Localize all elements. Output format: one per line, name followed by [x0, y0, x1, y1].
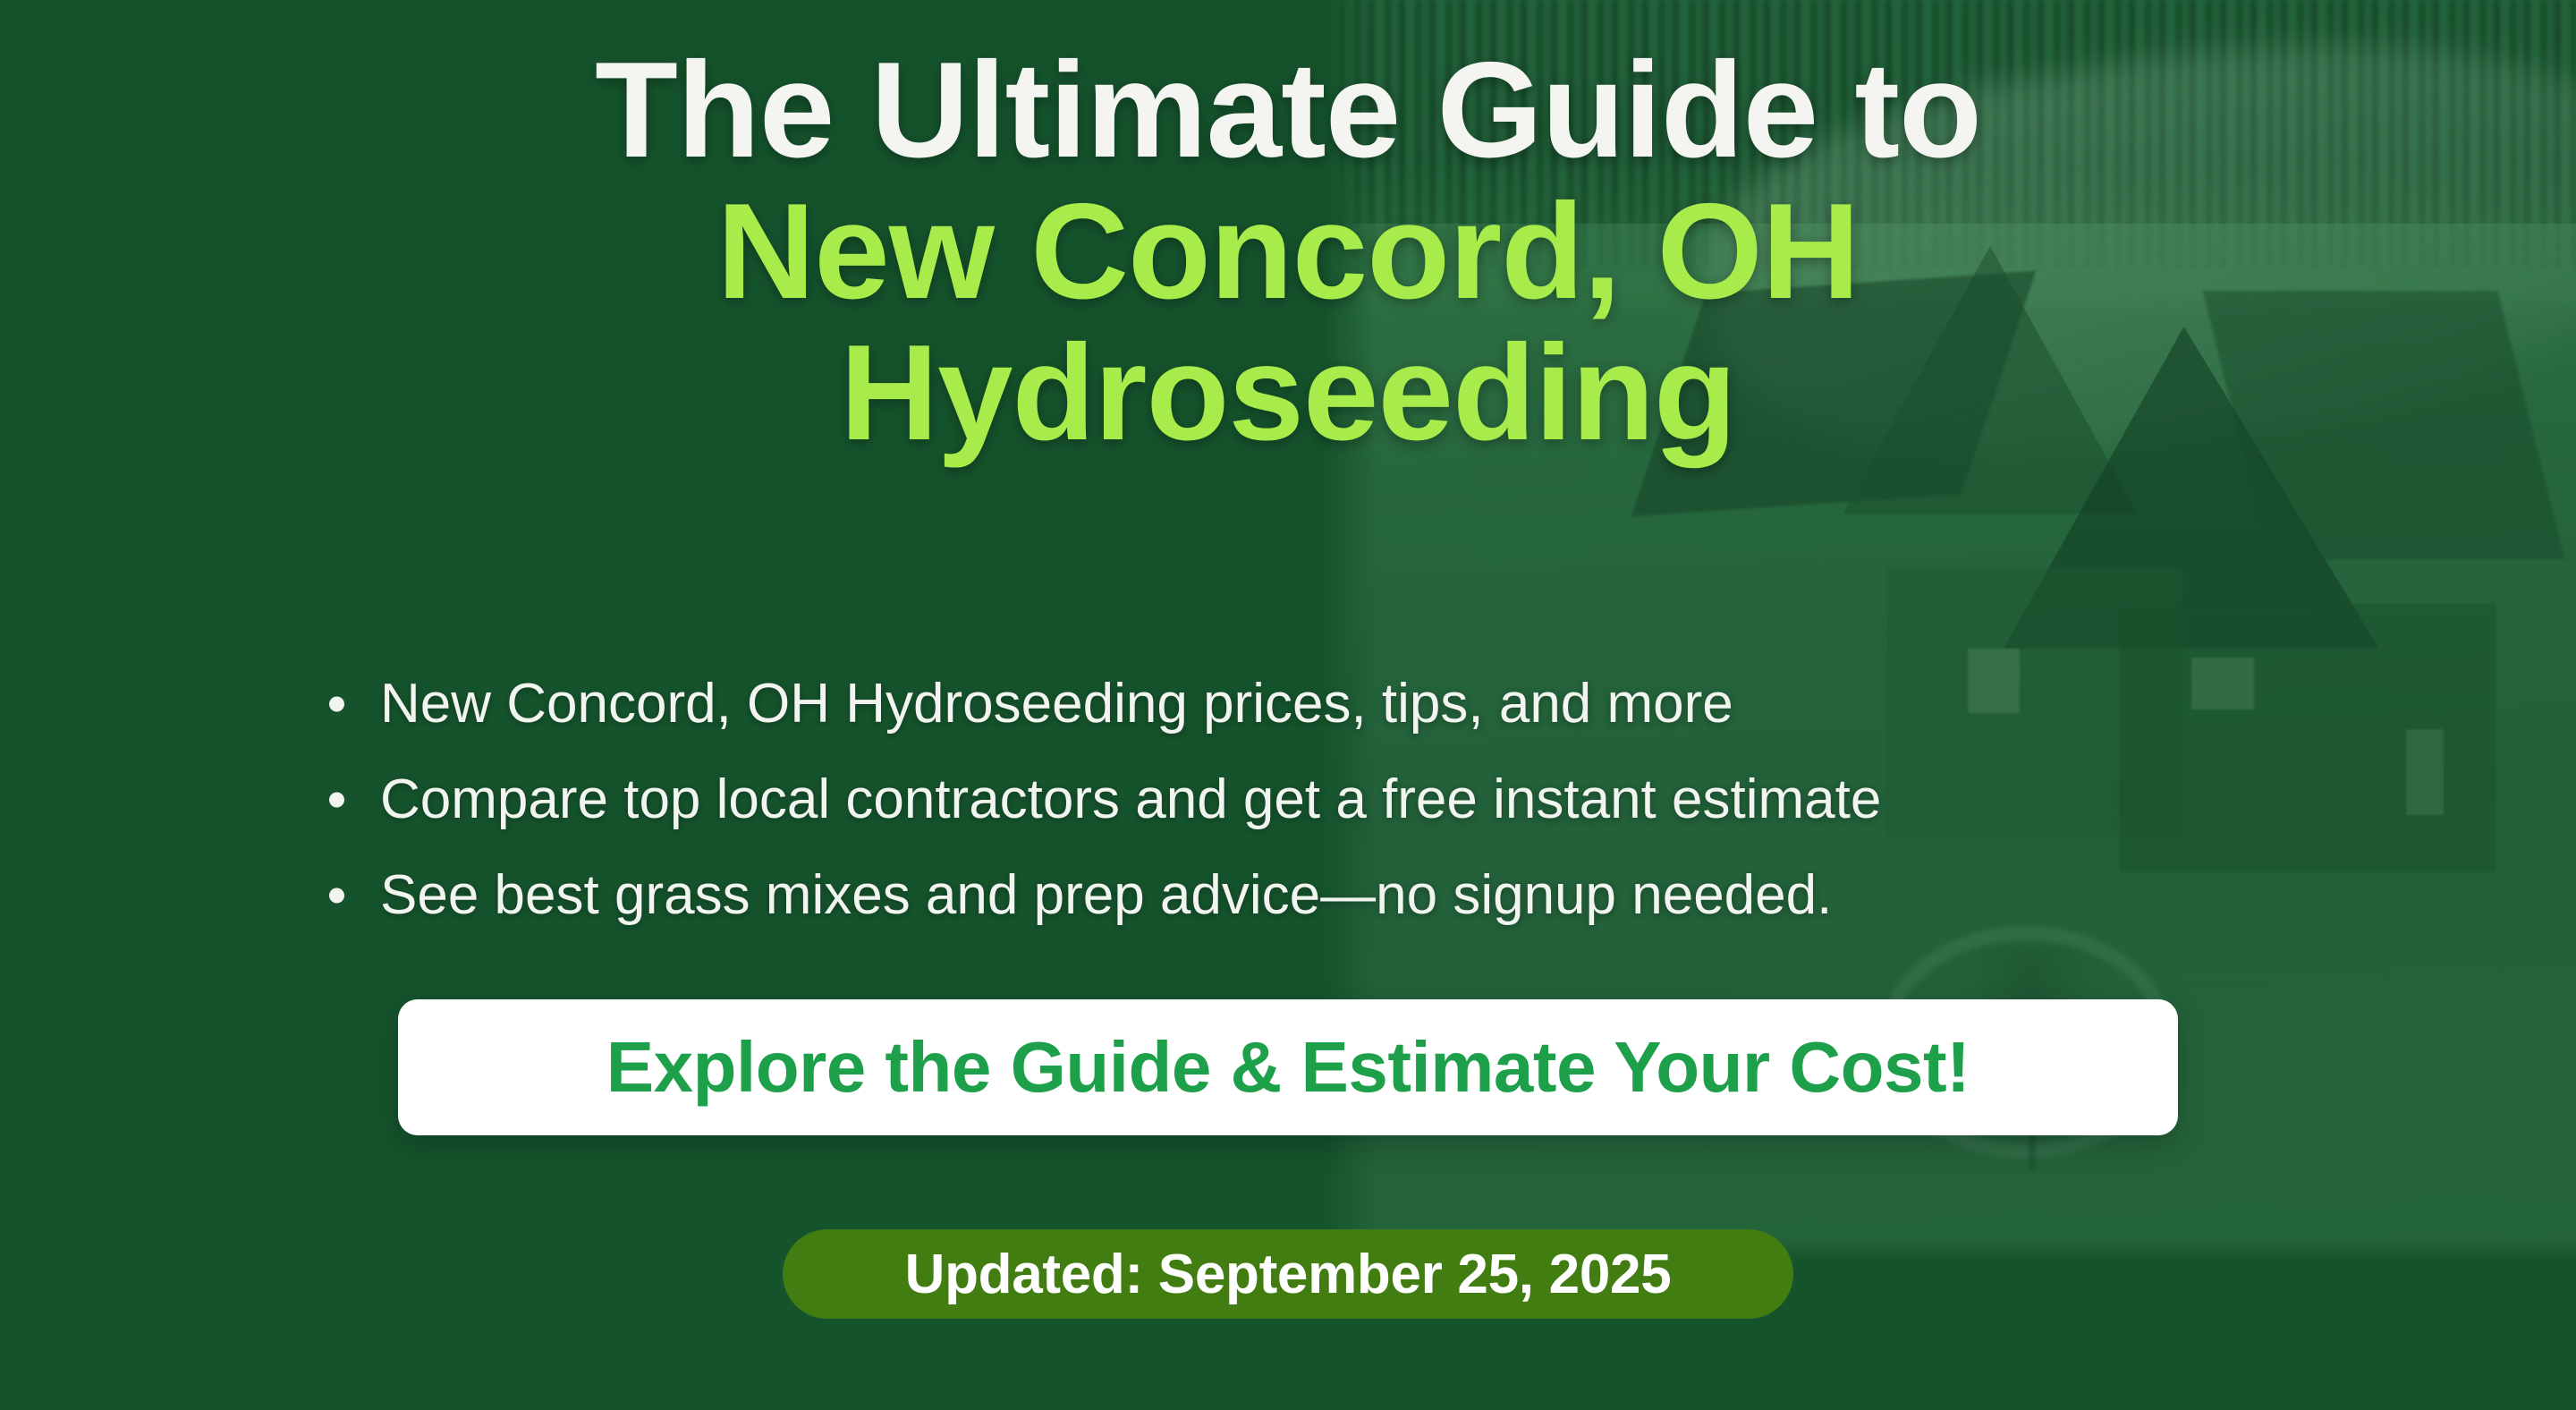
- bullet-text: Compare top local contractors and get a …: [380, 769, 1881, 830]
- list-item: Compare top local contractors and get a …: [304, 772, 1881, 828]
- last-updated-badge: Updated: September 25, 2025: [783, 1229, 1793, 1319]
- headline-line-2: New Concord, OH: [107, 181, 2469, 322]
- bullet-text: See best grass mixes and prep advice—no …: [380, 864, 1832, 926]
- explore-guide-estimate-cost-button[interactable]: Explore the Guide & Estimate Your Cost!: [398, 999, 2178, 1135]
- page-title: The Ultimate Guide to New Concord, OH Hy…: [0, 39, 2576, 463]
- headline-line-1: The Ultimate Guide to: [595, 34, 1981, 186]
- benefits-list: New Concord, OH Hydroseeding prices, tip…: [304, 676, 1881, 923]
- headline-line-3: Hydroseeding: [107, 322, 2469, 463]
- list-item: See best grass mixes and prep advice—no …: [304, 868, 1881, 923]
- hero-banner: The Ultimate Guide to New Concord, OH Hy…: [0, 0, 2576, 1410]
- banner-content: The Ultimate Guide to New Concord, OH Hy…: [0, 0, 2576, 1410]
- list-item: New Concord, OH Hydroseeding prices, tip…: [304, 676, 1881, 732]
- bullet-text: New Concord, OH Hydroseeding prices, tip…: [380, 673, 1733, 735]
